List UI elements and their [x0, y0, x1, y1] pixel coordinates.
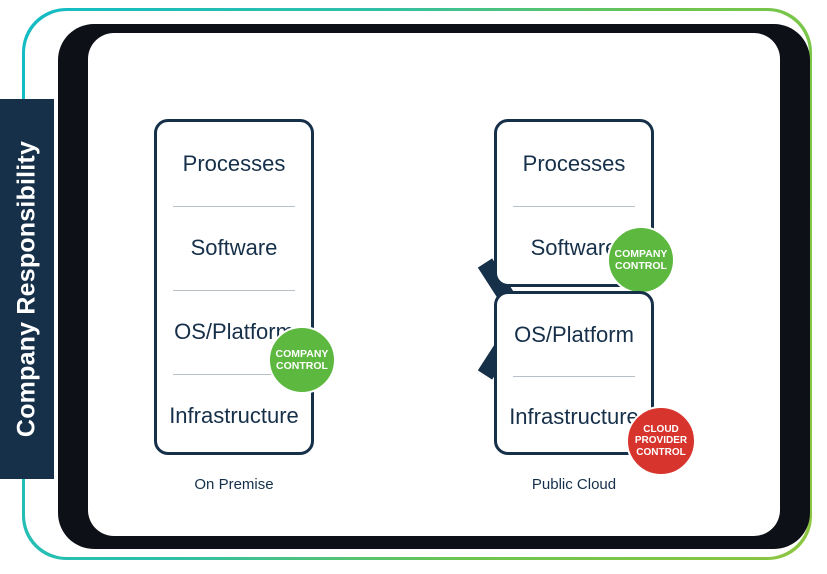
on-premise-stack: Processes Software OS/Platform Infrastru… [154, 119, 314, 455]
badge-cloud-provider-control: CLOUD PROVIDER CONTROL [626, 406, 696, 476]
layer-processes-right: Processes [497, 122, 651, 206]
badge-line: CONTROL [615, 260, 667, 272]
badge-company-control-left: COMPANY CONTROL [268, 326, 336, 394]
badge-company-control-right: COMPANY CONTROL [607, 226, 675, 294]
layer-processes-left: Processes [157, 122, 311, 206]
side-tab-label: Company Responsibility [13, 141, 42, 437]
layer-label: Processes [183, 151, 286, 177]
badge-line: CONTROL [276, 360, 328, 372]
badge-line: COMPANY [276, 348, 329, 360]
layer-label: OS/Platform [514, 322, 634, 348]
layer-label: Software [191, 235, 278, 261]
badge-line: COMPANY [615, 248, 668, 260]
badge-line: PROVIDER [635, 435, 687, 447]
side-tab: Company Responsibility [0, 99, 54, 479]
layer-label: Processes [523, 151, 626, 177]
content-card: Processes Software OS/Platform Infrastru… [88, 33, 780, 536]
badge-line: CONTROL [636, 447, 685, 459]
badge-line: CLOUD [643, 424, 679, 436]
layer-software-left: Software [157, 206, 311, 290]
layer-os-platform-right: OS/Platform [497, 294, 651, 376]
layer-label: Software [531, 235, 618, 261]
caption-on-premise: On Premise [154, 476, 314, 493]
caption-public-cloud: Public Cloud [494, 476, 654, 493]
layer-label: Infrastructure [509, 404, 639, 430]
layer-label: Infrastructure [169, 403, 299, 429]
